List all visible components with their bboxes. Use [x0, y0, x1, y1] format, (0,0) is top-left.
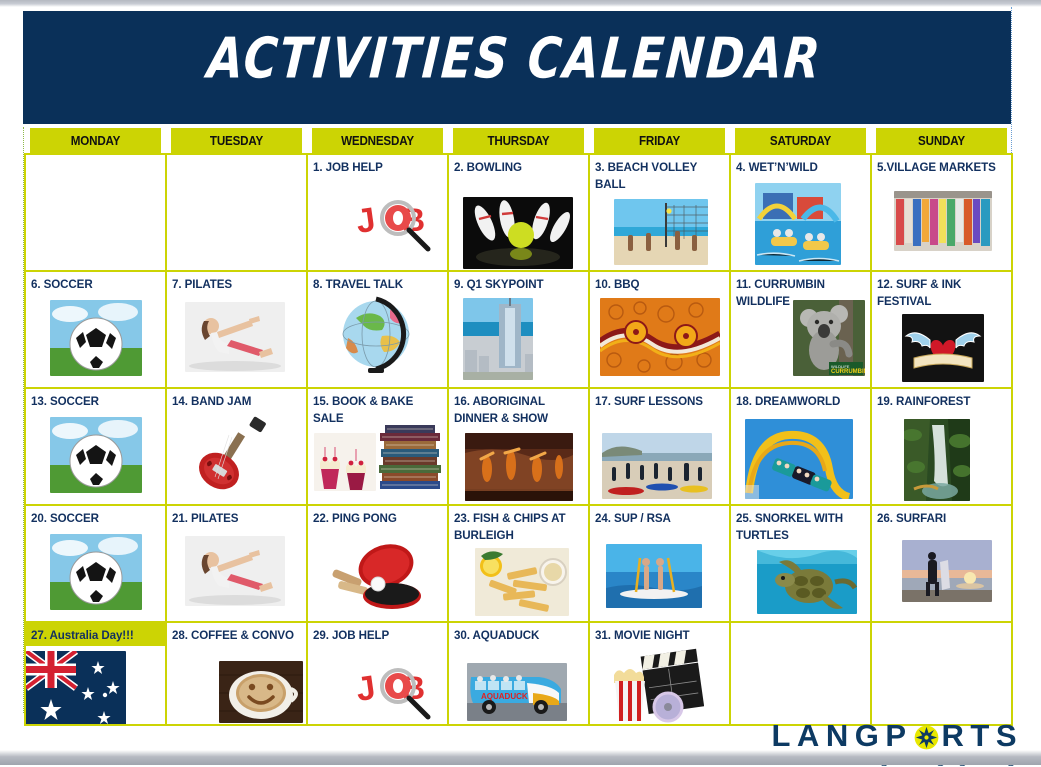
calendar-week-row: 20. SOCCER21. PILATES22. PING PONG23. FI…	[25, 505, 1012, 622]
calendar-cell[interactable]: 21. PILATES	[166, 505, 307, 622]
soccer-ball-photo-image	[50, 417, 142, 498]
activity-label: 6. SOCCER	[26, 272, 165, 293]
activity-label: 29. JOB HELP	[308, 623, 447, 644]
day-header-tuesday: TUESDAY	[171, 128, 302, 154]
calendar-cell[interactable]: 30. AQUADUCKAQUADUCK	[448, 622, 589, 725]
calendar-cell[interactable]: 11. CURRUMBIN WILDLIFEWILDLIFECURRUMBIN	[730, 271, 871, 388]
calendar-week-row: 6. SOCCER7. PILATES8. TRAVEL TALK9. Q1 S…	[25, 271, 1012, 388]
calendar-cell[interactable]: 20. SOCCER	[25, 505, 166, 622]
calendar-cell[interactable]: 24. SUP / RSA	[589, 505, 730, 622]
calendar-cell[interactable]: 7. PILATES	[166, 271, 307, 388]
calendar-cell[interactable]: 8. TRAVEL TALK	[307, 271, 448, 388]
activity-label: 27. Australia Day!!!	[26, 623, 165, 646]
bowling-pins-photo-image	[463, 197, 573, 271]
activity-label: 10. BBQ	[590, 272, 729, 293]
activity-label: 21. PILATES	[167, 506, 306, 527]
pilates-woman-photo-image	[185, 536, 285, 611]
globe-photo-image	[338, 296, 416, 381]
aquaduck-bus-photo-image: AQUADUCK	[467, 663, 567, 725]
calendar-cell[interactable]: 13. SOCCER	[25, 388, 166, 505]
calendar-body: 1. JOB HELPJB2. BOWLING3. BEACH VOLLEY B…	[25, 154, 1012, 725]
activity-label: 18. DREAMWORLD	[731, 389, 870, 410]
paddleboard-photo-image	[606, 544, 702, 613]
calendar-cell[interactable]: 25. SNORKEL WITH TURTLES	[730, 505, 871, 622]
calendar-cell[interactable]: 14. BAND JAM	[166, 388, 307, 505]
page-title: ACTIVITIES CALENDAR	[205, 25, 824, 91]
svg-text:AQUADUCK: AQUADUCK	[481, 692, 528, 701]
calendar-cell-empty[interactable]	[166, 154, 307, 271]
day-header-thursday: THURSDAY	[453, 128, 584, 154]
activities-calendar-grid: MONDAY TUESDAY WEDNESDAY THURSDAY FRIDAY…	[24, 128, 1013, 726]
calendar-cell[interactable]: 19. RAINFOREST	[871, 388, 1012, 505]
pilates-woman-photo-image	[185, 302, 285, 377]
activity-label: 26. SURFARI	[872, 506, 1011, 527]
day-header-monday: MONDAY	[30, 128, 161, 154]
activity-label: 11. CURRUMBIN WILDLIFE	[731, 272, 870, 310]
calendar-cell[interactable]: 28. COFFEE & CONVO	[166, 622, 307, 725]
activity-label: 17. SURF LESSONS	[590, 389, 729, 410]
activity-label: 7. PILATES	[167, 272, 306, 293]
activity-label: 8. TRAVEL TALK	[308, 272, 447, 293]
activity-label: 30. AQUADUCK	[449, 623, 588, 644]
activity-label: 19. RAINFOREST	[872, 389, 1011, 410]
surfer-sunset-photo-image	[902, 540, 992, 607]
activity-label: 16. ABORIGINAL DINNER & SHOW	[449, 389, 588, 427]
activity-label: 3. BEACH VOLLEY BALL	[590, 155, 729, 193]
day-header-saturday: SATURDAY	[735, 128, 866, 154]
calendar-cell[interactable]: 3. BEACH VOLLEY BALL	[589, 154, 730, 271]
electric-guitar-photo-image	[193, 415, 277, 498]
activity-label: 9. Q1 SKYPOINT	[449, 272, 588, 293]
calendar-cell[interactable]: 6. SOCCER	[25, 271, 166, 388]
logo-wordmark: LANGP RTS	[772, 720, 1024, 752]
logo-text-right: RTS	[942, 720, 1024, 752]
svg-text:CURRUMBIN: CURRUMBIN	[831, 369, 865, 375]
day-header-row: MONDAY TUESDAY WEDNESDAY THURSDAY FRIDAY…	[25, 128, 1012, 154]
calendar-cell-empty[interactable]	[730, 622, 871, 725]
activity-label: 31. MOVIE NIGHT	[590, 623, 729, 644]
window-bottom-bar	[0, 750, 1041, 765]
activity-label: 28. COFFEE & CONVO	[167, 623, 306, 644]
waterfall-photo-image	[904, 419, 970, 505]
calendar-cell-empty[interactable]	[25, 154, 166, 271]
ping-pong-paddles-photo-image	[324, 540, 424, 617]
latte-smiley-photo-image	[219, 661, 303, 725]
activity-label: 24. SUP / RSA	[590, 506, 729, 527]
calendar-cell[interactable]: 12. SURF & INK FESTIVAL	[871, 271, 1012, 388]
calendar-cell-empty[interactable]	[871, 622, 1012, 725]
calendar-cell[interactable]: 26. SURFARI	[871, 505, 1012, 622]
calendar-cell[interactable]: 31. MOVIE NIGHT	[589, 622, 730, 725]
stacked-books-image	[378, 421, 442, 494]
cupcakes-and-books-photo-image	[314, 433, 376, 496]
winged-heart-tattoo-logo-image	[902, 314, 984, 387]
activity-label: 14. BAND JAM	[167, 389, 306, 410]
svg-text:J: J	[354, 669, 378, 709]
activity-label: 13. SOCCER	[26, 389, 165, 410]
calendar-cell[interactable]: 16. ABORIGINAL DINNER & SHOW	[448, 388, 589, 505]
document-page: ACTIVITIES CALENDAR MONDAY TUESDAY WEDNE…	[0, 7, 1041, 750]
job-help-magnifier-image: JB	[354, 659, 440, 725]
calendar-cell[interactable]: 2. BOWLING	[448, 154, 589, 271]
activity-label: 22. PING PONG	[308, 506, 447, 527]
soccer-ball-photo-image	[50, 300, 142, 381]
calendar-cell[interactable]: 17. SURF LESSONS	[589, 388, 730, 505]
activity-label: 25. SNORKEL WITH TURTLES	[731, 506, 870, 544]
calendar-week-row: 1. JOB HELPJB2. BOWLING3. BEACH VOLLEY B…	[25, 154, 1012, 271]
aboriginal-art-photo-image	[600, 298, 720, 381]
calendar-cell[interactable]: 1. JOB HELPJB	[307, 154, 448, 271]
svg-text:J: J	[354, 201, 378, 241]
calendar-week-row: 13. SOCCER14. BAND JAM15. BOOK & BAKE SA…	[25, 388, 1012, 505]
day-header-sunday: SUNDAY	[876, 128, 1007, 154]
activity-label: 4. WET’N’WILD	[731, 155, 870, 176]
beach-volleyball-photo-image	[614, 199, 708, 270]
soccer-ball-photo-image	[50, 534, 142, 615]
surf-lesson-beach-photo-image	[602, 433, 712, 504]
calendar-cell[interactable]: 18. DREAMWORLD	[730, 388, 871, 505]
activity-label: 12. SURF & INK FESTIVAL	[872, 272, 1011, 310]
q1-tower-photo-image	[463, 298, 533, 385]
fish-and-chips-photo-image	[475, 548, 569, 621]
calendar-cell[interactable]: 5.VILLAGE MARKETS	[871, 154, 1012, 271]
activity-label: 20. SOCCER	[26, 506, 165, 527]
logo-text-left: LANGP	[772, 720, 913, 752]
day-header-friday: FRIDAY	[594, 128, 725, 154]
calendar-week-row: 27. Australia Day!!!28. COFFEE & CONVO29…	[25, 622, 1012, 725]
window-top-bar	[0, 0, 1041, 7]
calendar-cell[interactable]: 29. JOB HELPJB	[307, 622, 448, 725]
day-header-wednesday: WEDNESDAY	[312, 128, 443, 154]
calendar-cell[interactable]: 27. Australia Day!!!	[25, 622, 166, 725]
activity-label: 5.VILLAGE MARKETS	[872, 155, 1011, 176]
clothing-rack-photo-image	[894, 191, 992, 256]
logo-star-icon	[914, 724, 939, 749]
calendar-cell[interactable]: 15. BOOK & BAKE SALE	[307, 388, 448, 505]
calendar-cell[interactable]: 9. Q1 SKYPOINT	[448, 271, 589, 388]
activity-label: 23. FISH & CHIPS AT BURLEIGH	[449, 506, 588, 544]
australian-flag-image	[26, 651, 165, 725]
waterpark-photo-image	[755, 183, 841, 270]
calendar-cell[interactable]: 10. BBQ	[589, 271, 730, 388]
popcorn-clapperboard-photo-image	[608, 645, 704, 725]
calendar-cell[interactable]: 23. FISH & CHIPS AT BURLEIGH	[448, 505, 589, 622]
title-banner: ACTIVITIES CALENDAR	[23, 11, 1011, 124]
sea-turtle-photo-image	[757, 550, 857, 619]
calendar-cell[interactable]: 4. WET’N’WILD	[730, 154, 871, 271]
activity-label: 15. BOOK & BAKE SALE	[308, 389, 447, 427]
aboriginal-dancers-photo-image	[465, 433, 573, 505]
activity-label: 1. JOB HELP	[308, 155, 447, 176]
calendar-cell[interactable]: 22. PING PONG	[307, 505, 448, 622]
rollercoaster-photo-image	[745, 419, 853, 504]
activity-label: 2. BOWLING	[449, 155, 588, 176]
koala-photo-image: WILDLIFECURRUMBIN	[793, 300, 865, 381]
job-help-magnifier-image: JB	[354, 191, 440, 258]
